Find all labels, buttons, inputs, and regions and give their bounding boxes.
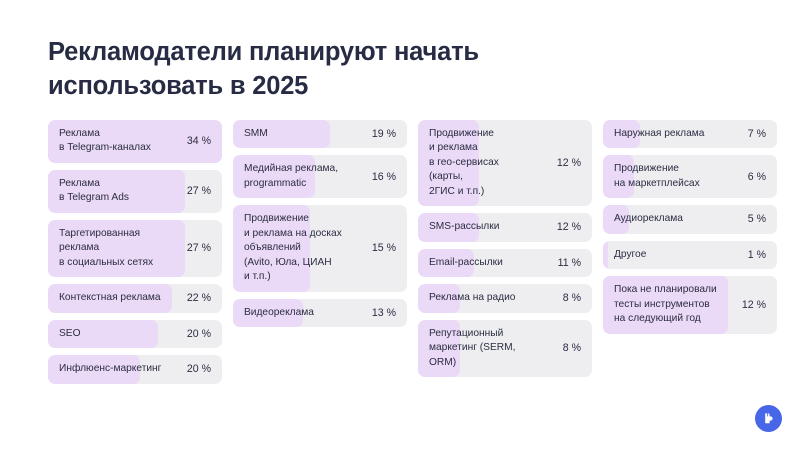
bar-value: 8 % [563,292,581,305]
bar-content: SEO20 % [48,320,222,348]
bar-value: 15 % [372,242,396,255]
bar-content: Продвижение и реклама на досках объявлен… [233,205,407,291]
bar-row[interactable]: SMM19 % [233,120,407,148]
bar-content: Аудиореклама5 % [603,205,777,233]
bar-value: 27 % [187,185,211,198]
bar-content: Таргетированная реклама в социальных сет… [48,220,222,277]
bar-row[interactable]: Медийная реклама, programmatic16 % [233,155,407,198]
bar-content: Другое1 % [603,241,777,269]
bar-chart: Реклама в Telegram-каналах34 %Реклама в … [48,120,772,384]
bar-label: SEO [59,327,181,341]
bar-label: Реклама в Telegram Ads [59,177,181,206]
bar-label: Аудиореклама [614,212,742,226]
bar-content: Видеореклама13 % [233,299,407,327]
bar-content: SMM19 % [233,120,407,148]
bar-row[interactable]: SEO20 % [48,320,222,348]
bar-row[interactable]: Реклама в Telegram Ads27 % [48,170,222,213]
bar-label: Наружная реклама [614,127,742,141]
bar-label: Email-рассылки [429,256,552,270]
bar-value: 1 % [748,249,766,262]
bar-content: Контекстная реклама22 % [48,284,222,312]
bar-label: Пока не планировали тесты инструментов н… [614,283,736,326]
bar-row[interactable]: Наружная реклама7 % [603,120,777,148]
bar-content: Репутационный маркетинг (SERM, ORM)8 % [418,320,592,377]
bar-label: Инфлюенс-маркетинг [59,362,181,376]
bar-label: Контекстная реклама [59,291,181,305]
bar-label: Реклама в Telegram-каналах [59,127,181,156]
bar-row[interactable]: Инфлюенс-маркетинг20 % [48,355,222,383]
bar-label: Видеореклама [244,306,366,320]
bar-value: 12 % [557,157,581,170]
bar-label: SMS-рассылки [429,220,551,234]
bar-value: 20 % [187,328,211,341]
bar-column: SMM19 %Медийная реклама, programmatic16 … [233,120,407,327]
bar-row[interactable]: Контекстная реклама22 % [48,284,222,312]
bar-value: 22 % [187,292,211,305]
brand-logo-icon [760,410,777,427]
bar-row[interactable]: Email-рассылки11 % [418,249,592,277]
bar-label: Другое [614,248,742,262]
bar-row[interactable]: Репутационный маркетинг (SERM, ORM)8 % [418,320,592,377]
bar-label: Медийная реклама, programmatic [244,162,366,191]
bar-content: SMS-рассылки12 % [418,213,592,241]
bar-content: Продвижение на маркетплейсах6 % [603,155,777,198]
bar-value: 12 % [742,299,766,312]
bar-content: Реклама в Telegram Ads27 % [48,170,222,213]
bar-row[interactable]: Реклама в Telegram-каналах34 % [48,120,222,163]
bar-row[interactable]: SMS-рассылки12 % [418,213,592,241]
bar-content: Продвижение и реклама в гео-сервисах (ка… [418,120,592,206]
bar-value: 11 % [558,257,581,270]
bar-content: Наружная реклама7 % [603,120,777,148]
bar-value: 7 % [748,128,766,141]
bar-content: Реклама в Telegram-каналах34 % [48,120,222,163]
bar-row[interactable]: Аудиореклама5 % [603,205,777,233]
bar-row[interactable]: Продвижение на маркетплейсах6 % [603,155,777,198]
bar-row[interactable]: Продвижение и реклама на досках объявлен… [233,205,407,291]
bar-label: Продвижение и реклама в гео-сервисах (ка… [429,127,551,199]
bar-value: 27 % [187,242,211,255]
bar-row[interactable]: Видеореклама13 % [233,299,407,327]
bar-column: Наружная реклама7 %Продвижение на маркет… [603,120,777,334]
bar-value: 5 % [748,213,766,226]
bar-row[interactable]: Пока не планировали тесты инструментов н… [603,276,777,333]
bar-value: 12 % [557,221,581,234]
bar-content: Медийная реклама, programmatic16 % [233,155,407,198]
bar-row[interactable]: Продвижение и реклама в гео-сервисах (ка… [418,120,592,206]
bar-label: Реклама на радио [429,291,557,305]
bar-label: Репутационный маркетинг (SERM, ORM) [429,327,557,370]
slide: Рекламодатели планируют начать использов… [0,0,800,450]
bar-value: 19 % [372,128,396,141]
bar-content: Email-рассылки11 % [418,249,592,277]
bar-column: Реклама в Telegram-каналах34 %Реклама в … [48,120,222,384]
brand-logo [755,405,782,432]
bar-value: 34 % [187,135,211,148]
bar-column: Продвижение и реклама в гео-сервисах (ка… [418,120,592,377]
bar-content: Пока не планировали тесты инструментов н… [603,276,777,333]
bar-content: Реклама на радио8 % [418,284,592,312]
bar-label: SMM [244,127,366,141]
bar-value: 20 % [187,363,211,376]
bar-row[interactable]: Таргетированная реклама в социальных сет… [48,220,222,277]
bar-row[interactable]: Реклама на радио8 % [418,284,592,312]
bar-value: 16 % [372,171,396,184]
bar-label: Продвижение на маркетплейсах [614,162,742,191]
page-title: Рекламодатели планируют начать использов… [48,36,648,103]
bar-row[interactable]: Другое1 % [603,241,777,269]
bar-value: 8 % [563,342,581,355]
bar-value: 6 % [748,171,766,184]
bar-value: 13 % [372,307,396,320]
bar-label: Продвижение и реклама на досках объявлен… [244,212,366,284]
bar-label: Таргетированная реклама в социальных сет… [59,227,181,270]
bar-content: Инфлюенс-маркетинг20 % [48,355,222,383]
